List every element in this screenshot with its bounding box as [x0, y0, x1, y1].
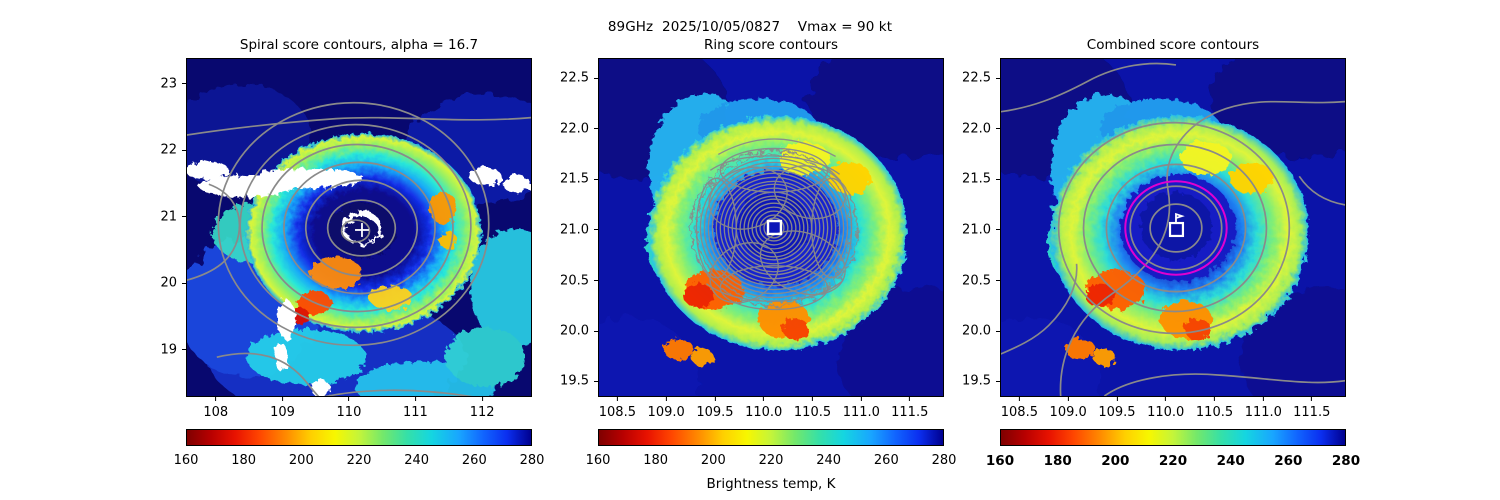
panel-combined: Combined score contours	[1000, 58, 1346, 397]
panel-ring-xtick-1: 109.0	[648, 397, 685, 420]
colorbar-ring-tick-6: 280	[932, 446, 957, 468]
panel-spiral-xtick-1: 109	[270, 397, 295, 420]
panel-spiral-ytick-0: 19	[160, 342, 186, 357]
colorbar-spiral-tick-4: 240	[404, 446, 429, 468]
panel-combined-xtick-2: 109.5	[1098, 397, 1135, 420]
panel-spiral-ytick-1: 20	[160, 276, 186, 291]
colorbar-ring[interactable]: 160 180 200 220 240 260 280 Brightness t…	[598, 429, 944, 446]
colorbar-spiral-tick-6: 280	[520, 446, 545, 468]
panel-ring-ytick-0: 19.5	[560, 374, 598, 389]
colorbar-axis-label: Brightness temp, K	[707, 446, 836, 492]
panel-combined-ytick-5: 22.0	[962, 121, 1000, 136]
panel-spiral-xtick-0: 108	[203, 397, 228, 420]
panel-ring-overlay	[599, 59, 943, 396]
colorbar-spiral-tick-1: 180	[231, 446, 256, 468]
panel-combined-xtick-6: 111.5	[1293, 397, 1330, 420]
panel-ring-xtick-2: 109.5	[696, 397, 733, 420]
colorbar-spiral[interactable]: 160 180 200 220 240 260 280	[186, 429, 532, 446]
panel-combined-overlay	[1001, 59, 1345, 396]
figure-canvas: 89GHz 2025/10/05/0827 Vmax = 90 kt Spira…	[0, 0, 1500, 500]
colorbar-combined-tick-2: 200	[1101, 446, 1129, 469]
panel-ring-xtick-3: 110.0	[745, 397, 782, 420]
colorbar-ring-tick-0: 160	[586, 446, 611, 468]
colorbar-spiral-gradient	[186, 429, 532, 446]
panel-combined-xtick-0: 108.5	[1001, 397, 1038, 420]
colorbar-spiral-tick-5: 260	[462, 446, 487, 468]
panel-ring-xtick-6: 111.5	[891, 397, 928, 420]
panel-ring-axes[interactable]	[598, 58, 944, 397]
panel-ring-ytick-1: 20.0	[560, 324, 598, 339]
panel-combined-ytick-0: 19.5	[962, 374, 1000, 389]
panel-combined-axes[interactable]	[1000, 58, 1346, 397]
colorbar-combined-tick-5: 260	[1274, 446, 1302, 469]
panel-combined-title: Combined score contours	[1000, 37, 1346, 53]
colorbar-ring-tick-5: 260	[874, 446, 899, 468]
panel-spiral-axes[interactable]	[186, 58, 532, 397]
panel-spiral-xtick-2: 110	[337, 397, 362, 420]
colorbar-ring-gradient	[598, 429, 944, 446]
colorbar-combined-tick-4: 240	[1217, 446, 1245, 469]
colorbar-combined-tick-3: 220	[1159, 446, 1187, 469]
figure-suptitle: 89GHz 2025/10/05/0827 Vmax = 90 kt	[0, 19, 1500, 35]
panel-ring-ytick-6: 22.5	[560, 71, 598, 86]
panel-ring-ytick-2: 20.5	[560, 273, 598, 288]
panel-combined-ytick-1: 20.0	[962, 324, 1000, 339]
panel-ring-xtick-5: 111.0	[843, 397, 880, 420]
panel-spiral-ytick-3: 22	[160, 143, 186, 158]
panel-combined-ytick-3: 21.0	[962, 222, 1000, 237]
colorbar-spiral-tick-0: 160	[174, 446, 199, 468]
panel-spiral-xtick-4: 112	[470, 397, 495, 420]
colorbar-ring-tick-1: 180	[643, 446, 668, 468]
panel-ring-xtick-0: 108.5	[599, 397, 636, 420]
panel-spiral-overlay	[187, 59, 531, 396]
panel-ring-ytick-4: 21.5	[560, 172, 598, 187]
panel-spiral-xtick-3: 111	[403, 397, 428, 420]
panel-combined-ytick-2: 20.5	[962, 273, 1000, 288]
colorbar-spiral-tick-2: 200	[289, 446, 314, 468]
panel-ring-title: Ring score contours	[598, 37, 944, 53]
panel-combined-ytick-4: 21.5	[962, 172, 1000, 187]
colorbar-combined-tick-0: 160	[986, 446, 1014, 469]
panel-spiral-ytick-4: 23	[160, 76, 186, 91]
panel-combined-xtick-4: 110.5	[1196, 397, 1233, 420]
colorbar-combined[interactable]: 160 180 200 220 240 260 280	[1000, 429, 1346, 446]
panel-ring: Ring score contours	[598, 58, 944, 397]
panel-combined-xtick-5: 111.0	[1245, 397, 1282, 420]
colorbar-combined-tick-6: 280	[1332, 446, 1360, 469]
panel-spiral: Spiral score contours, alpha = 16.7	[186, 58, 532, 397]
panel-ring-ytick-5: 22.0	[560, 121, 598, 136]
colorbar-combined-tick-1: 180	[1044, 446, 1072, 469]
panel-ring-ytick-3: 21.0	[560, 222, 598, 237]
colorbar-combined-gradient	[1000, 429, 1346, 446]
panel-combined-xtick-1: 109.0	[1050, 397, 1087, 420]
panel-combined-xtick-3: 110.0	[1147, 397, 1184, 420]
panel-ring-xtick-4: 110.5	[794, 397, 831, 420]
panel-spiral-title: Spiral score contours, alpha = 16.7	[186, 37, 532, 53]
panel-combined-ytick-6: 22.5	[962, 71, 1000, 86]
colorbar-spiral-tick-3: 220	[347, 446, 372, 468]
panel-spiral-ytick-2: 21	[160, 209, 186, 224]
